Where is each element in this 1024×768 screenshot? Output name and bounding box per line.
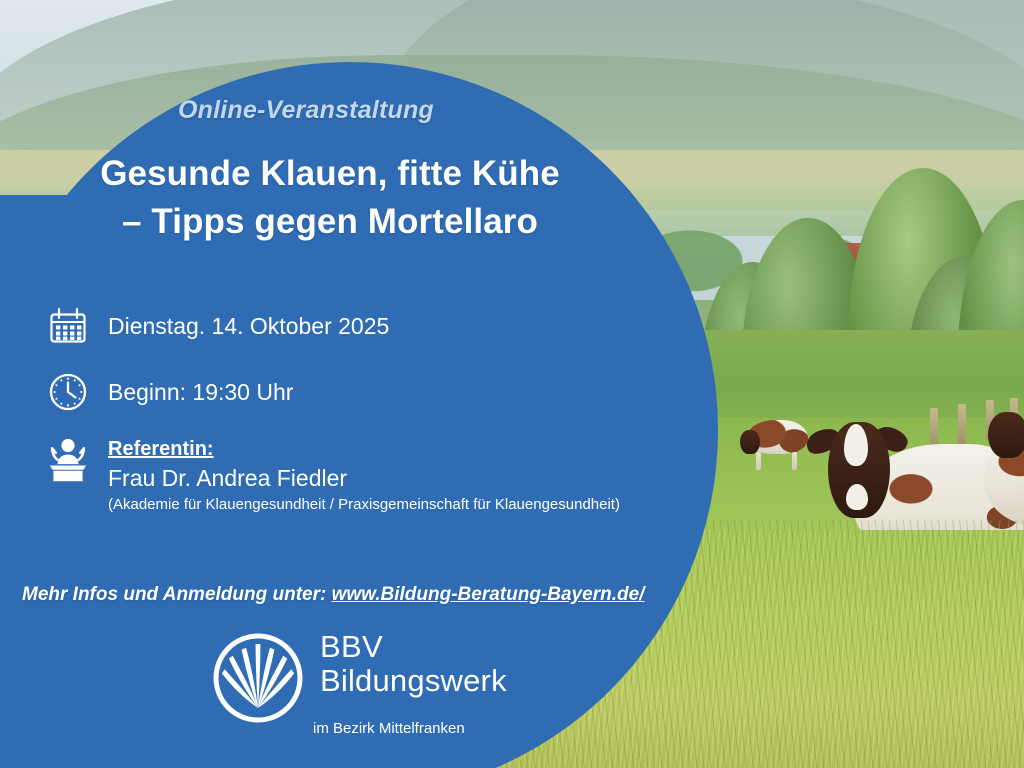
speaker-organisation: (Akademie für Klauengesundheit / Praxisg… <box>108 494 620 516</box>
signup-prefix: Mehr Infos und Anmeldung unter: <box>22 584 332 605</box>
bbv-logo-text: BBV Bildungswerk <box>320 630 507 698</box>
bbv-fan-circle-logo-icon <box>210 630 306 726</box>
event-time-row: Beginn: 19:30 Uhr <box>44 368 293 416</box>
title-line-2: – Tipps gegen Mortellaro <box>0 198 660 246</box>
signup-url-link[interactable]: www.Bildung-Beratung-Bayern.de/ <box>332 584 645 605</box>
poster-content: Online-Veranstaltung Gesunde Klauen, fit… <box>0 0 1024 768</box>
speaker-name: Frau Dr. Andrea Fiedler <box>108 462 620 494</box>
event-speaker-row: Referentin: Frau Dr. Andrea Fiedler (Aka… <box>44 436 620 516</box>
bbv-logo: BBV Bildungswerk <box>210 630 507 726</box>
event-kicker: Online-Veranstaltung <box>178 96 434 125</box>
logo-line-1: BBV <box>320 630 507 663</box>
title-line-1: Gesunde Klauen, fitte Kühe <box>0 150 660 198</box>
page-title: Gesunde Klauen, fitte Kühe – Tipps gegen… <box>0 150 660 246</box>
event-date-text: Dienstag. 14. Oktober 2025 <box>108 313 389 340</box>
event-poster: Online-Veranstaltung Gesunde Klauen, fit… <box>0 0 1024 768</box>
clock-icon <box>44 368 92 416</box>
event-time-text: Beginn: 19:30 Uhr <box>108 379 293 406</box>
signup-line: Mehr Infos und Anmeldung unter: www.Bild… <box>22 584 644 606</box>
lectern-speaker-icon <box>44 436 92 484</box>
speaker-label: Referentin: <box>108 436 620 462</box>
logo-line-2: Bildungswerk <box>320 663 507 698</box>
speaker-block: Referentin: Frau Dr. Andrea Fiedler (Aka… <box>108 436 620 516</box>
calendar-icon <box>44 302 92 350</box>
event-date-row: Dienstag. 14. Oktober 2025 <box>44 302 389 350</box>
logo-line-3: im Bezirk Mittelfranken <box>313 716 465 742</box>
